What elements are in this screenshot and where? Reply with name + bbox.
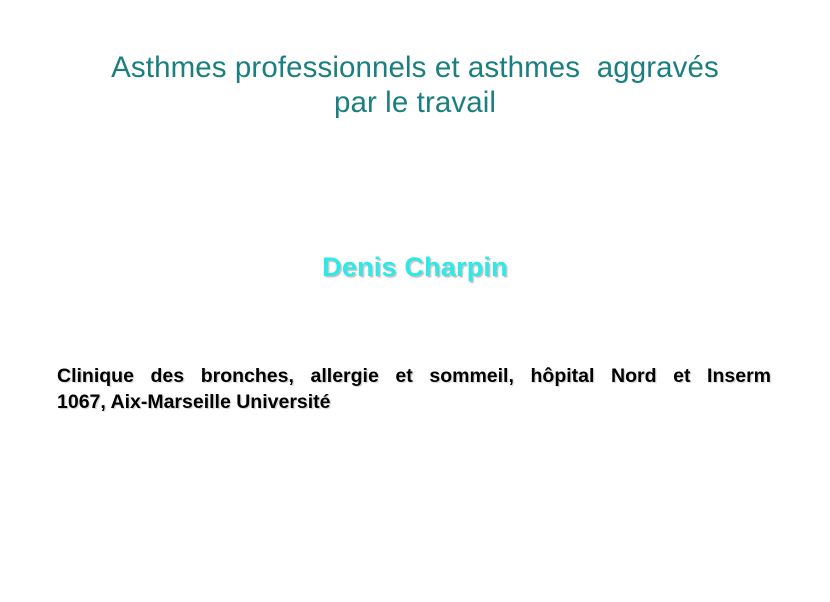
affiliation-line-2: 1067, Aix-Marseille Université (57, 389, 771, 415)
affiliation-line-1: Clinique des bronches, allergie et somme… (57, 363, 771, 389)
page-title: Asthmes professionnels et asthmes aggrav… (55, 50, 775, 120)
title-line-2: par le travail (55, 85, 775, 120)
author-block: Denis Charpin (55, 251, 775, 283)
title-line-1: Asthmes professionnels et asthmes aggrav… (55, 50, 775, 85)
presentation-slide: Asthmes professionnels et asthmes aggrav… (0, 0, 830, 602)
author-name: Denis Charpin (322, 251, 508, 283)
affiliation-block: Clinique des bronches, allergie et somme… (57, 363, 771, 415)
